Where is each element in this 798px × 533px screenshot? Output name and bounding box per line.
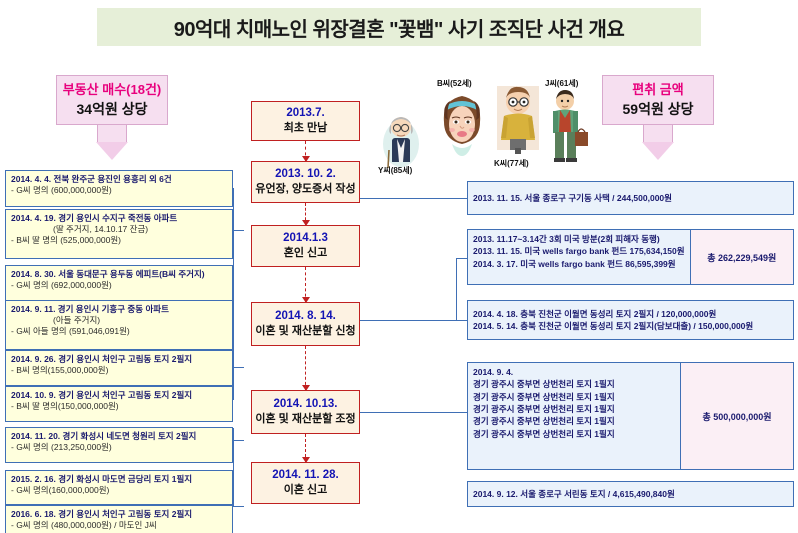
page-title: 90억대 치매노인 위장결혼 "꽃뱀" 사기 조직단 사건 개요 xyxy=(174,13,625,42)
left-info-line: 2014. 4. 4. 전북 완주군 용진인 용흥리 외 6건 xyxy=(11,174,228,185)
flow-connector-0 xyxy=(305,141,306,161)
left-info-box-8: 2016. 6. 18. 경기 용인시 처인구 고림동 토지 2필지 - G씨 … xyxy=(5,505,233,533)
person-label-1: B씨(52세) xyxy=(437,78,472,89)
right-info-line: 경기 광주시 중부면 상번천리 토지 1필지 xyxy=(473,428,675,440)
person-figure-woman xyxy=(438,88,486,158)
flow-step-label: 이혼 및 재산분할 조정 xyxy=(255,413,355,427)
right-info-line: 2014. 4. 18. 충북 진천군 이월면 동성리 토지 2필지 / 120… xyxy=(473,308,788,320)
page-title-banner: 90억대 치매노인 위장결혼 "꽃뱀" 사기 조직단 사건 개요 xyxy=(97,8,701,46)
left-info-line: 2014. 9. 26. 경기 용인시 처인구 고림동 토지 2필지 xyxy=(11,354,228,365)
flow-step-label: 최초 만남 xyxy=(284,122,328,136)
right-info-total: 총 500,000,000원 xyxy=(702,410,771,423)
right-info-line: 2014. 9. 4. xyxy=(473,366,675,378)
right-info-total-cell: 총 500,000,000원 xyxy=(680,363,793,469)
right-connector-h-2 xyxy=(360,320,467,321)
flow-connector-4 xyxy=(305,434,306,462)
left-info-line: 2015. 2. 16. 경기 화성시 마도면 금당리 토지 1필지 xyxy=(11,474,228,485)
left-info-line: 2014. 8. 30. 서울 동대문구 용두동 에피트(B씨 주거지) xyxy=(11,269,228,280)
left-info-line: - G씨 명의 (480,000,000원) / 마도인 J씨 xyxy=(11,520,228,531)
left-info-line: - B씨 딸 명의(150,000,000원) xyxy=(11,401,228,412)
left-info-box-3: 2014. 9. 11. 경기 용인시 기흥구 중동 아파트 (아들 주거지) … xyxy=(5,300,233,350)
flow-step-4: 2014. 10.13. 이혼 및 재산분할 조정 xyxy=(251,390,360,434)
left-info-line: - B씨 명의(155,000,000원) xyxy=(11,365,228,376)
left-info-box-4: 2014. 9. 26. 경기 용인시 처인구 고림동 토지 2필지 - B씨 … xyxy=(5,350,233,386)
right-info-lines: 2013. 11.17~3.14간 3회 미국 방분(2회 피해자 동행) 20… xyxy=(468,230,690,284)
right-info-box-2: 2014. 4. 18. 충북 진천군 이월면 동성리 토지 2필지 / 120… xyxy=(467,300,794,340)
flow-step-date: 2014. 8. 14. xyxy=(275,309,336,323)
left-info-box-6: 2014. 11. 20. 경기 화성시 네도면 청원리 토지 2필지 - G씨… xyxy=(5,427,233,463)
right-info-total: 총 262,229,549원 xyxy=(707,251,776,264)
right-connector-h-0 xyxy=(360,198,467,199)
flow-step-date: 2014. 10.13. xyxy=(274,397,338,411)
left-info-line: 2014. 11. 20. 경기 화성시 네도면 청원리 토지 2필지 xyxy=(11,431,228,442)
left-info-line: - G씨 명의(160,000,000원) xyxy=(11,485,228,496)
right-arrow-shaft xyxy=(643,125,673,142)
right-info-box-0: 2013. 11. 15. 서울 종로구 구기동 사택 / 244,500,00… xyxy=(467,181,794,215)
person-label-3: J씨(61세) xyxy=(545,78,578,89)
left-info-line: - B씨 딸 명의 (525,000,000원) xyxy=(11,235,228,246)
left-summary-line2: 34억원 상당 xyxy=(77,100,148,118)
left-arrow-shaft xyxy=(97,125,127,142)
flow-step-date: 2013. 10. 2. xyxy=(275,167,336,181)
right-info-line: 2014. 9. 12. 서울 종로구 서린동 토지 / 4,615,490,8… xyxy=(473,488,675,500)
right-info-line: 2013. 11.17~3.14간 3회 미국 방분(2회 피해자 동행) xyxy=(473,233,685,245)
right-info-total-cell: 총 262,229,549원 xyxy=(690,230,793,284)
right-info-box-4: 2014. 9. 12. 서울 종로구 서린동 토지 / 4,615,490,8… xyxy=(467,481,794,507)
flow-step-3: 2014. 8. 14. 이혼 및 재산분할 신청 xyxy=(251,302,360,346)
right-info-line: 경기 광주시 중부면 상번천리 토지 1필지 xyxy=(473,415,675,427)
person-figure-elder xyxy=(376,110,426,168)
left-arrow-head xyxy=(96,142,128,160)
left-connector-h-1 xyxy=(233,367,244,368)
flow-step-date: 2013.7. xyxy=(286,106,324,120)
left-info-line: (아들 주거지) xyxy=(11,315,228,326)
left-info-line: (딸 주거지, 14.10.17 잔금) xyxy=(11,224,228,235)
right-summary-header: 편취 금액 59억원 상당 xyxy=(602,75,714,125)
left-info-line: - G씨 명의 (692,000,000원) xyxy=(11,280,228,291)
right-summary-line1: 편취 금액 xyxy=(632,82,683,98)
left-info-box-7: 2015. 2. 16. 경기 화성시 마도면 금당리 토지 1필지 - G씨 … xyxy=(5,470,233,505)
flow-step-label: 유언장, 양도증서 작성 xyxy=(255,183,355,197)
flow-connector-3 xyxy=(305,346,306,390)
left-info-box-5: 2014. 10. 9. 경기 용인시 처인구 고림동 토지 2필지 - B씨 … xyxy=(5,386,233,422)
right-arrow-head xyxy=(642,142,674,160)
left-info-line: 2014. 4. 19. 경기 용인시 수지구 죽전동 아파트 xyxy=(11,213,228,224)
flow-connector-1 xyxy=(305,203,306,225)
flow-step-date: 2014.1.3 xyxy=(283,231,328,245)
person-figure-man-bag xyxy=(545,88,589,162)
right-info-line: 경기 광주시 중부면 상번천리 토지 1필지 xyxy=(473,403,675,415)
right-info-line: 경기 광주시 중부면 상번천리 토지 1필지 xyxy=(473,378,675,390)
flow-step-0: 2013.7. 최초 만남 xyxy=(251,101,360,141)
flow-step-5: 2014. 11. 28. 이혼 신고 xyxy=(251,462,360,504)
left-info-line: - G씨 명의 (213,250,000원) xyxy=(11,442,228,453)
left-info-line: 2014. 10. 9. 경기 용인시 처인구 고림동 토지 2필지 xyxy=(11,390,228,401)
left-info-line: 2016. 6. 18. 경기 용인시 처인구 고림동 토지 2필지 xyxy=(11,509,228,520)
left-summary-line1: 부동산 매수(18건) xyxy=(63,82,162,98)
flow-step-1: 2013. 10. 2. 유언장, 양도증서 작성 xyxy=(251,161,360,203)
right-info-lines: 2014. 9. 4. 경기 광주시 중부면 상번천리 토지 1필지 경기 광주… xyxy=(468,363,680,469)
flow-step-2: 2014.1.3 혼인 신고 xyxy=(251,225,360,267)
left-connector-h-0 xyxy=(233,230,244,231)
left-info-line: 2014. 9. 11. 경기 용인시 기흥구 중동 아파트 xyxy=(11,304,228,315)
person-label-2: K씨(77세) xyxy=(494,158,529,169)
right-info-line: 2014. 5. 14. 충북 진천군 이월면 동성리 토지 2필지(담보대출)… xyxy=(473,320,788,332)
left-info-line: - G씨 아들 명의 (591,046,091원) xyxy=(11,326,228,337)
right-connector-h-1 xyxy=(456,258,467,259)
right-info-line: 2013. 11. 15. 서울 종로구 구기동 사택 / 244,500,00… xyxy=(473,192,672,204)
right-info-box-1: 2013. 11.17~3.14간 3회 미국 방분(2회 피해자 동행) 20… xyxy=(467,229,794,285)
flow-step-label: 이혼 및 재산분할 신청 xyxy=(255,325,355,339)
right-info-line: 2014. 3. 17. 미국 wells fargo bank 펀드 86,5… xyxy=(473,258,685,270)
right-info-line: 경기 광주시 중부면 상번천리 토지 1필지 xyxy=(473,391,675,403)
flow-connector-2 xyxy=(305,267,306,302)
person-figure-man-glasses xyxy=(495,82,541,154)
left-info-box-2: 2014. 8. 30. 서울 동대문구 용두동 에피트(B씨 주거지) - G… xyxy=(5,265,233,302)
left-info-box-0: 2014. 4. 4. 전북 완주군 용진인 용흥리 외 6건 - G씨 명의 … xyxy=(5,170,233,207)
flow-step-date: 2014. 11. 28. xyxy=(272,468,339,482)
flow-step-label: 혼인 신고 xyxy=(284,247,328,261)
left-summary-header: 부동산 매수(18건) 34억원 상당 xyxy=(56,75,168,125)
left-info-line: - G씨 명의 (600,000,000원) xyxy=(11,185,228,196)
left-connector-h-3 xyxy=(233,506,244,507)
right-connector-h-3 xyxy=(360,412,467,413)
person-label-0: Y씨(85세) xyxy=(378,165,412,176)
left-info-box-1: 2014. 4. 19. 경기 용인시 수지구 죽전동 아파트 (딸 주거지, … xyxy=(5,209,233,259)
right-summary-line2: 59억원 상당 xyxy=(623,100,694,118)
right-info-box-3: 2014. 9. 4. 경기 광주시 중부면 상번천리 토지 1필지 경기 광주… xyxy=(467,362,794,470)
right-info-line: 2013. 11. 15. 미국 wells fargo bank 펀드 175… xyxy=(473,245,685,257)
right-connector-v-1 xyxy=(456,258,457,320)
left-connector-h-2 xyxy=(233,440,244,441)
flow-step-label: 이혼 신고 xyxy=(284,484,328,498)
